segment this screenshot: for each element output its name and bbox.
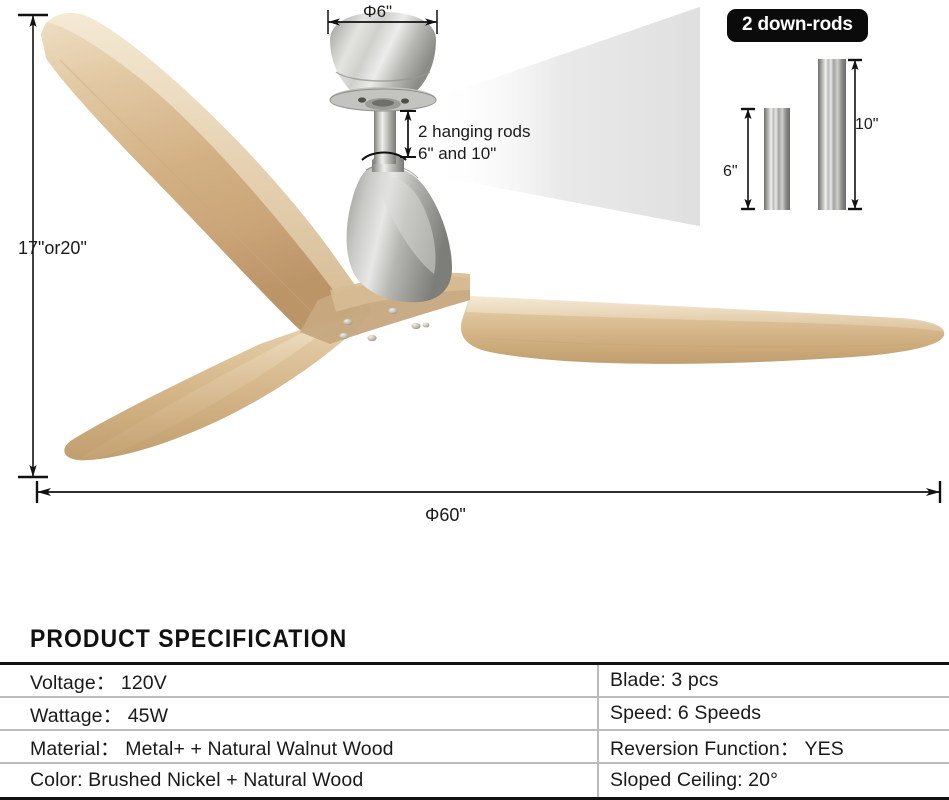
hanging-rods-note: 2 hanging rods 6" and 10"	[418, 121, 530, 165]
fan-height-label: 17"or20"	[18, 238, 87, 259]
table-row: Wattage： 45W Speed: 6 Speeds	[0, 698, 949, 731]
table-row: Material： Metal+ + Natural Walnut Wood R…	[0, 731, 949, 764]
product-spec-sheet: 2 down-rods	[0, 0, 949, 800]
spec-table: Voltage： 120V Blade: 3 pcs Wattage： 45W …	[0, 665, 949, 797]
product-specification-title: PRODUCT SPECIFICATION	[30, 625, 347, 654]
spec-cell-speed: Speed: 6 Speeds	[610, 702, 761, 725]
spec-cell-material: Material： Metal+ + Natural Walnut Wood	[30, 732, 394, 761]
hanging-rods-note-line2: 6" and 10"	[418, 144, 496, 163]
rod-long-label: 10"	[855, 116, 878, 134]
fan-illustration	[0, 0, 949, 600]
ceiling-fan-diagram: 2 down-rods	[0, 0, 949, 600]
table-row: Voltage： 120V Blade: 3 pcs	[0, 665, 949, 698]
spec-cell-sloped-ceiling: Sloped Ceiling: 20°	[610, 769, 778, 792]
hanging-rods-note-line1: 2 hanging rods	[418, 122, 530, 141]
rod-short-label: 6"	[723, 163, 738, 181]
spec-cell-voltage: Voltage： 120V	[30, 666, 167, 695]
spec-cell-color: Color: Brushed Nickel + Natural Wood	[30, 769, 363, 792]
spec-cell-wattage: Wattage： 45W	[30, 699, 168, 728]
spec-cell-reversion: Reversion Function： YES	[610, 732, 844, 761]
product-specification-section: PRODUCT SPECIFICATION Voltage： 120V Blad…	[0, 600, 949, 800]
spec-cell-blade: Blade: 3 pcs	[610, 669, 719, 692]
canopy-diameter-label: Φ6"	[363, 2, 392, 22]
fan-diameter-label: Φ60"	[425, 505, 466, 526]
table-row: Color: Brushed Nickel + Natural Wood Slo…	[0, 764, 949, 797]
